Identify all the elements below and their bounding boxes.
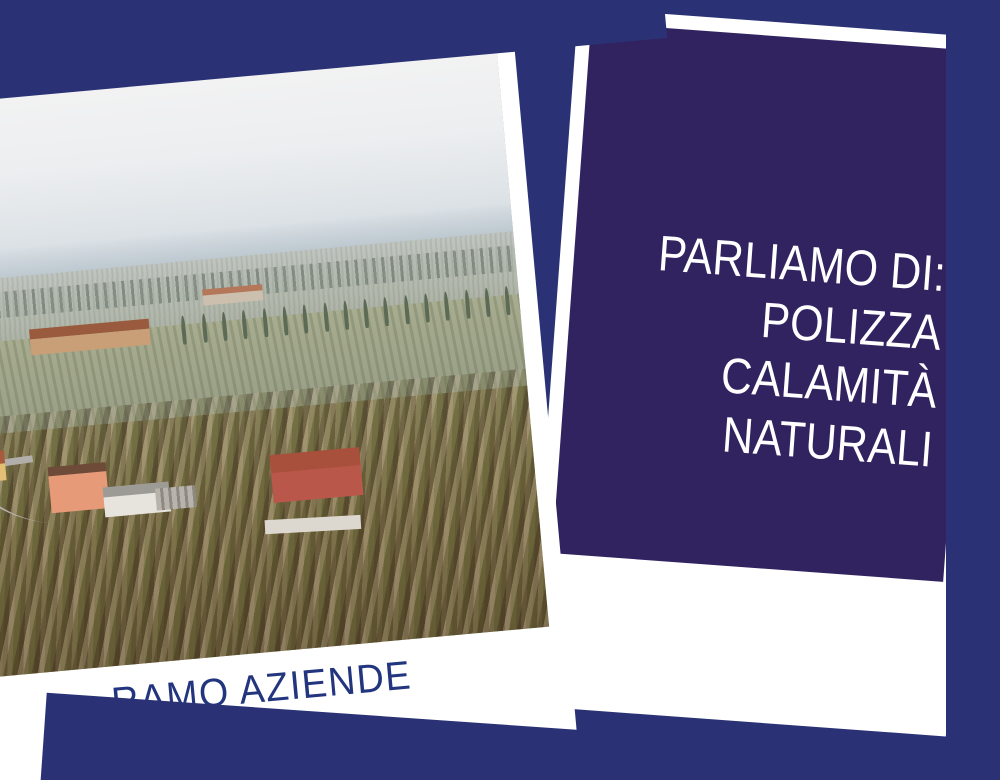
headline-text-block: PARLIAMO DI: POLIZZA CALAMITÀ NATURALI: [630, 223, 947, 478]
aerial-vineyard-photo: [0, 53, 549, 680]
headline-card: PARLIAMO DI: POLIZZA CALAMITÀ NATURALI: [527, 8, 997, 737]
promo-card: PARLIAMO DI: POLIZZA CALAMITÀ NATURALI: [0, 0, 1000, 780]
photo-card: RAMO AZIENDE: [0, 33, 580, 780]
photo-steel-tanks: [155, 485, 197, 511]
headline-panel: PARLIAMO DI: POLIZZA CALAMITÀ NATURALI: [552, 23, 982, 582]
background-wedge-right: [946, 0, 1000, 780]
photo-building-pink-house: [48, 462, 110, 513]
photo-building-red-barn: [270, 447, 364, 503]
